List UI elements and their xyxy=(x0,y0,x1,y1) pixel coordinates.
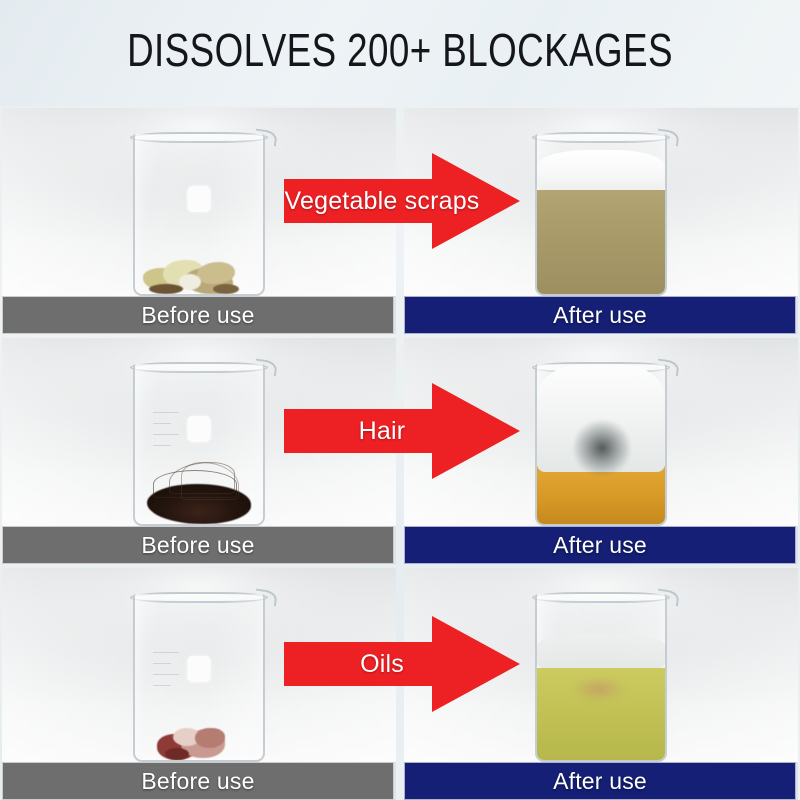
caption-before-oils: Before use xyxy=(2,762,394,800)
caption-label: Before use xyxy=(141,302,254,329)
hair-residue-specks xyxy=(573,420,631,476)
caption-label: Before use xyxy=(141,768,254,795)
before-panel-oils: Before use xyxy=(2,568,396,800)
beaker-graduations xyxy=(153,412,201,458)
veg-scrap-dark xyxy=(213,284,239,294)
header-banner: DISSOLVES 200+ BLOCKAGES xyxy=(0,0,800,106)
before-photo-hair xyxy=(2,338,396,526)
beaker-glass xyxy=(535,364,667,526)
before-panel-vegetable-scraps: Before use xyxy=(2,108,396,334)
after-panel-oils: After use xyxy=(404,568,798,800)
beaker-contents-vegetable-scraps xyxy=(135,248,263,294)
after-photo-vegetable-scraps xyxy=(404,108,798,296)
after-photo-oils xyxy=(404,568,798,762)
beaker-contents-hair xyxy=(135,462,263,524)
caption-label: After use xyxy=(553,302,647,329)
caption-label: Before use xyxy=(141,532,254,559)
before-photo-vegetable-scraps xyxy=(2,108,396,296)
beaker-after-vegetable-scraps xyxy=(535,126,667,296)
caption-before-vegetable-scraps: Before use xyxy=(2,296,394,334)
beaker-before-vegetable-scraps xyxy=(133,126,265,296)
beaker-glass xyxy=(535,134,667,296)
beaker-glass xyxy=(133,594,265,762)
after-photo-hair xyxy=(404,338,798,526)
beaker-before-hair xyxy=(133,356,265,526)
page-title: DISSOLVES 200+ BLOCKAGES xyxy=(80,22,720,78)
beaker-sticker xyxy=(188,186,211,212)
beaker-liquid-khaki xyxy=(537,190,665,294)
caption-after-hair: After use xyxy=(404,526,796,564)
beaker-before-oils xyxy=(133,586,265,762)
oil-residue xyxy=(571,676,627,702)
veg-scrap-dark xyxy=(149,284,183,294)
before-photo-oils xyxy=(2,568,396,762)
product-infographic: DISSOLVES 200+ BLOCKAGES xyxy=(0,0,800,800)
comparison-row-oils: Before use After use xyxy=(0,568,800,800)
beaker-foam xyxy=(537,150,665,190)
after-panel-hair: After use xyxy=(404,338,798,564)
comparison-row-hair: Before use After use xyxy=(0,338,800,564)
caption-after-vegetable-scraps: After use xyxy=(404,296,796,334)
beaker-contents-meat-fat xyxy=(135,716,263,760)
beaker-after-oils xyxy=(535,586,667,762)
caption-before-hair: Before use xyxy=(2,526,394,564)
after-panel-vegetable-scraps: After use xyxy=(404,108,798,334)
beaker-graduations xyxy=(153,652,201,698)
comparison-row-vegetable-scraps: Before use After use xyxy=(0,108,800,334)
caption-label: After use xyxy=(553,768,647,795)
beaker-after-hair xyxy=(535,356,667,526)
beaker-glass xyxy=(535,594,667,762)
beaker-glass xyxy=(133,364,265,526)
beaker-foam xyxy=(537,634,665,668)
caption-after-oils: After use xyxy=(404,762,796,800)
before-panel-hair: Before use xyxy=(2,338,396,564)
caption-label: After use xyxy=(553,532,647,559)
beaker-glass xyxy=(133,134,265,296)
meat-piece-dark xyxy=(165,748,189,760)
